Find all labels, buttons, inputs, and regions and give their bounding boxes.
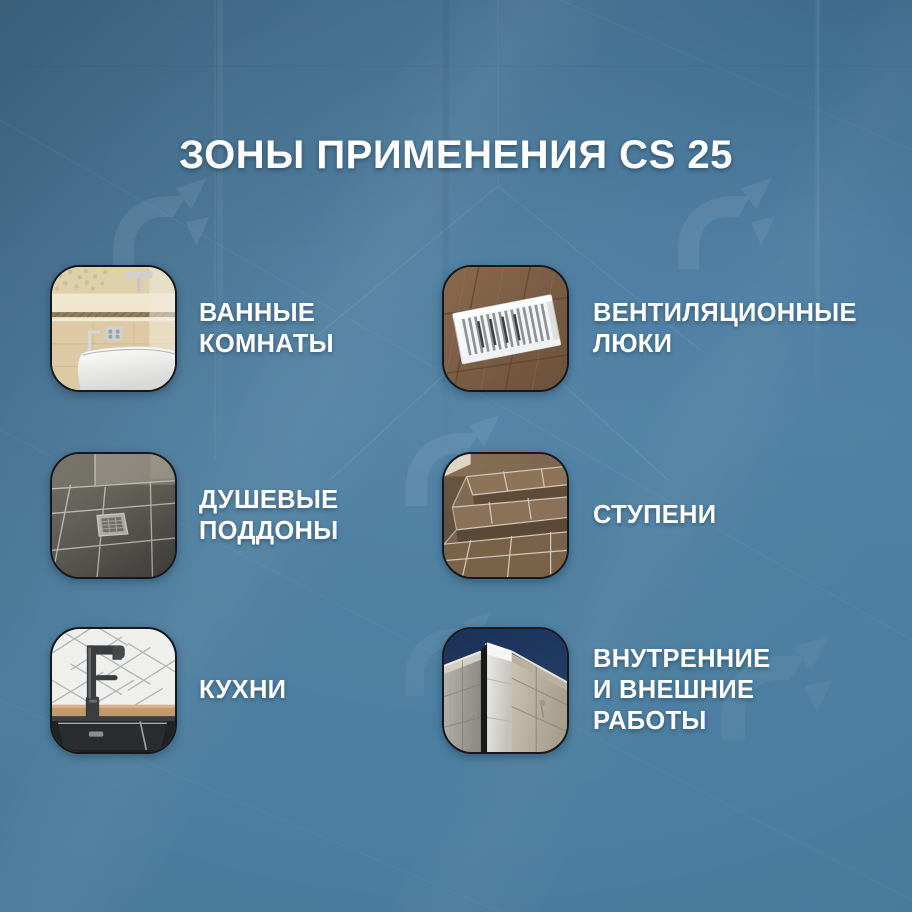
zone-item-steps: СТУПЕНИ — [442, 452, 716, 579]
zone-label: ВАННЫЕ КОМНАТЫ — [199, 298, 334, 360]
application-zones-grid: ВАННЫЕ КОМНАТЫ — [0, 0, 912, 912]
zone-item-shower-trays: ДУШЕВЫЕ ПОДДОНЫ — [50, 452, 338, 579]
zone-label: ДУШЕВЫЕ ПОДДОНЫ — [199, 485, 338, 547]
kitchen-photo-icon — [50, 627, 177, 754]
zone-item-bathrooms: ВАННЫЕ КОМНАТЫ — [50, 265, 334, 392]
zone-label: КУХНИ — [199, 675, 286, 706]
bathroom-photo-icon — [50, 265, 177, 392]
zone-item-ventilation-hatches: ВЕНТИЛЯЦИОННЫЕ ЛЮКИ — [442, 265, 857, 392]
tiled-steps-photo-icon — [442, 452, 569, 579]
zone-label: СТУПЕНИ — [593, 500, 716, 531]
zone-label: ВЕНТИЛЯЦИОННЫЕ ЛЮКИ — [593, 298, 857, 360]
zone-item-kitchens: КУХНИ — [50, 627, 286, 754]
zone-item-interior-exterior-works: ВНУТРЕННИЕ И ВНЕШНИЕ РАБОТЫ — [442, 627, 770, 754]
shower-tray-photo-icon — [50, 452, 177, 579]
promo-graphic: ЗОНЫ ПРИМЕНЕНИЯ CS 25 — [0, 0, 912, 912]
building-facade-photo-icon — [442, 627, 569, 754]
ventilation-grille-photo-icon — [442, 265, 569, 392]
zone-label: ВНУТРЕННИЕ И ВНЕШНИЕ РАБОТЫ — [593, 644, 770, 737]
